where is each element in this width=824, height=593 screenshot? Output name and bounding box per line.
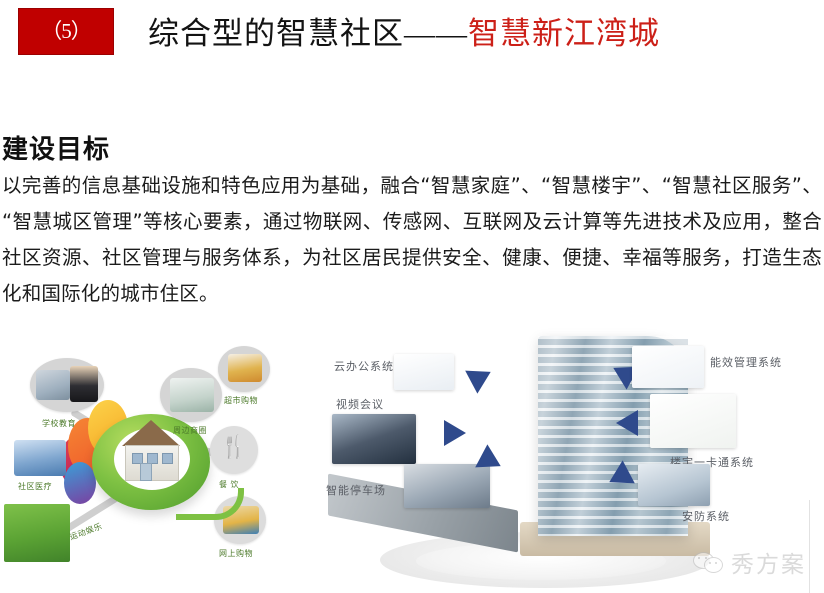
blob-blue (64, 462, 96, 504)
page-title: 综合型的智慧社区——智慧新江湾城 (148, 7, 660, 53)
graduate-person-icon (70, 366, 98, 402)
school-building-icon (36, 370, 70, 400)
smart-parking-thumb (404, 464, 490, 508)
security-system-thumb (638, 464, 710, 506)
node-label-school: 学校教育 (42, 418, 76, 429)
arrow-card-system (616, 410, 638, 436)
cloud-office-thumb (394, 354, 454, 390)
house-window (162, 453, 173, 464)
community-services-diagram: 学校教育 社区医疗 运动娱乐 周边商圈 超市购物 🍴 餐 饮 网上购物 (0, 336, 320, 593)
house-door (140, 463, 152, 481)
node-label-online-shopping: 网上购物 (219, 548, 253, 559)
house-body (125, 445, 179, 481)
wechat-icon (693, 550, 723, 574)
house-roof (122, 420, 180, 446)
label-security-system: 安防系统 (682, 508, 730, 524)
section-number-label: （5） (41, 21, 91, 42)
watermark-text: 秀方案 (731, 545, 806, 579)
mall-icon (170, 378, 214, 412)
label-cloud-office: 云办公系统 (334, 358, 394, 374)
sports-field-icon (4, 504, 70, 562)
section-body-text: 以完善的信息基础设施和特色应用为基础，融合“智慧家庭”、“智慧楼宇”、“智慧社区… (2, 168, 822, 312)
page-title-accent: 智慧新江湾城 (468, 8, 660, 53)
section-heading: 建设目标 (2, 129, 110, 166)
cutlery-icon: 🍴 (220, 436, 247, 458)
node-label-district: 周边商圈 (173, 425, 207, 436)
energy-management-thumb (632, 346, 704, 388)
node-label-healthcare: 社区医疗 (18, 481, 52, 492)
arrow-video-conference (444, 420, 466, 446)
shopping-cart-icon (228, 354, 262, 382)
watermark: 秀方案 (693, 545, 806, 579)
hospital-icon (14, 440, 66, 476)
label-video-conference: 视频会议 (336, 396, 384, 412)
page-title-main: 综合型的智慧社区—— (148, 8, 468, 53)
video-conference-thumb (332, 414, 416, 464)
wechat-bubble-small (704, 557, 723, 573)
label-energy-management: 能效管理系统 (710, 354, 782, 370)
slide-header: （5） 综合型的智慧社区——智慧新江湾城 (0, 0, 824, 62)
node-label-supermarket: 超市购物 (224, 395, 258, 406)
card-system-thumb (650, 394, 736, 448)
arrow-cloud-office (465, 360, 497, 393)
label-smart-parking: 智能停车场 (326, 482, 386, 498)
section-number-badge: （5） (18, 8, 114, 55)
watermark-divider (809, 500, 810, 593)
